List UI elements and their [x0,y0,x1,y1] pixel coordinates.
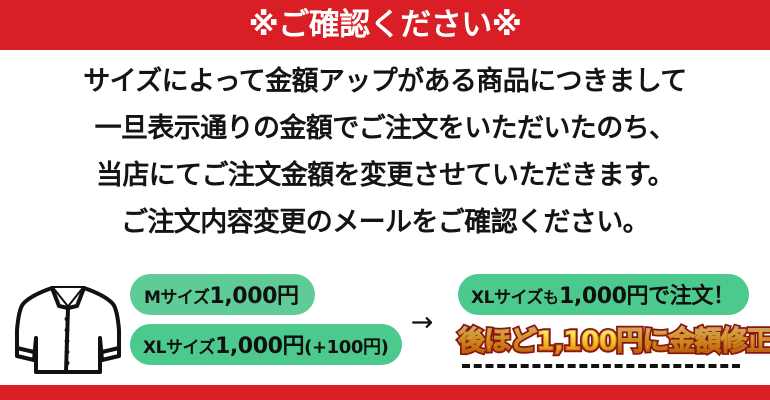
before-prices: Mサイズ1,000円 XLサイズ1,000円(+100円) [130,274,392,365]
xl-order-particle: も [543,288,559,307]
notice-banner: ※ご確認ください※ サイズによって金額アップがある商品につきまして 一旦表示通り… [0,0,770,400]
xl-size-price: 1,000円 [215,334,304,359]
price-correction-notice: 後ほど1,100円に金額修正 後ほど1,100円に金額修正 [458,325,750,361]
shirt-icon [14,276,122,376]
xl-size-surcharge: (+100円) [304,337,388,358]
notice-line-1: サイズによって金額アップがある商品につきまして [0,58,770,105]
notice-line-4: ご注文内容変更のメールをご確認ください。 [0,199,770,246]
m-size-price: 1,000円 [209,284,298,309]
price-comparison: Mサイズ1,000円 XLサイズ1,000円(+100円) → XLサイズも1,… [0,266,770,384]
after-prices: XLサイズも1,000円で注文！ 後ほど1,100円に金額修正 後ほど1,100… [458,274,758,361]
m-size-price-pill: Mサイズ1,000円 [130,274,315,315]
dashed-underline [462,364,740,368]
xl-order-price-pill: XLサイズも1,000円で注文！ [458,274,749,315]
price-correction-text: 後ほど1,100円に金額修正 [458,325,770,359]
xl-size-label: XLサイズ [143,338,215,358]
xl-size-price-pill: XLサイズ1,000円(+100円) [130,324,402,365]
notice-line-3: 当店にてご注文金額を変更させていただきます。 [0,152,770,199]
notice-line-2: 一旦表示通りの金額でご注文をいただいたのち、 [0,105,770,152]
xl-order-size-label: XLサイズ [471,288,543,308]
page-title: ※ご確認ください※ [0,0,770,50]
footer-band [0,385,770,400]
xl-order-price: 1,000円で注文！ [559,284,735,309]
m-size-label: Mサイズ [144,288,209,308]
arrow-right-icon: → [400,310,444,336]
notice-body: サイズによって金額アップがある商品につきまして 一旦表示通りの金額でご注文をいた… [0,58,770,246]
